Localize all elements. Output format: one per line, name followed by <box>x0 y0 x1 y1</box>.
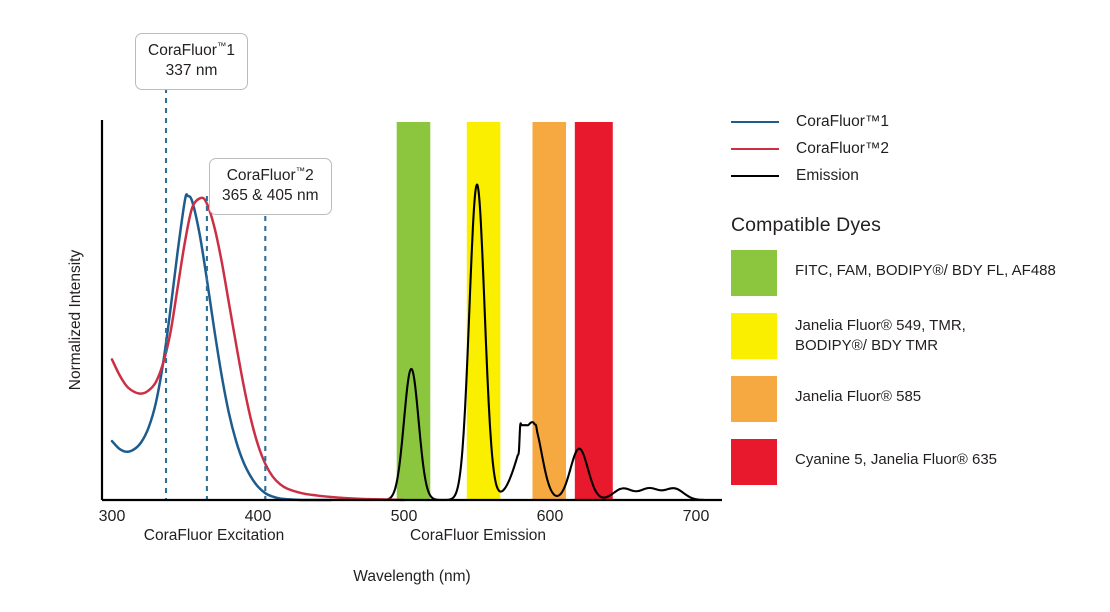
cf1-callout-index: 1 <box>226 42 235 59</box>
cora-fluor-2-callout: CoraFluor™2 365 & 405 nm <box>209 158 332 215</box>
dye-label-fitc: FITC, FAM, BODIPY®/ BDY FL, AF488 <box>795 250 1056 281</box>
emission-band <box>467 122 501 500</box>
dye-label-cyanine-5: Cyanine 5, Janelia Fluor® 635 <box>795 439 997 470</box>
legend-item-cora-fluor-2: CoraFluor™2 <box>731 135 1106 162</box>
dye-label-janelia-549: Janelia Fluor® 549, TMR, BODIPY®/ BDY TM… <box>795 313 966 356</box>
dye-color-swatch-cyanine-5 <box>731 439 777 485</box>
excitation-region-label: CoraFluor Excitation <box>144 527 284 544</box>
dye-label-janelia-549-line1: Janelia Fluor® 549, TMR, <box>795 317 966 334</box>
cf2-callout-index: 2 <box>305 167 314 184</box>
compatible-dyes-heading: Compatible Dyes <box>731 214 1106 237</box>
cf1-callout-name: CoraFluor <box>148 42 217 59</box>
legend-line-swatch-emission <box>731 175 779 177</box>
series-legend: CoraFluor™1 CoraFluor™2 Emission <box>731 108 1106 189</box>
emission-band <box>532 122 566 500</box>
excitation-curve-2 <box>112 198 404 500</box>
x-tick-label-300: 300 <box>99 508 126 525</box>
dye-item-fitc: FITC, FAM, BODIPY®/ BDY FL, AF488 <box>731 250 1106 296</box>
x-tick-label-500: 500 <box>391 508 418 525</box>
cf1-callout-value: 337 nm <box>148 61 235 81</box>
legend-item-cora-fluor-1: CoraFluor™1 <box>731 108 1106 135</box>
legend-line-swatch-cora-fluor-2 <box>731 148 779 150</box>
x-tick-label-700: 700 <box>683 508 710 525</box>
compatible-dyes-list: FITC, FAM, BODIPY®/ BDY FL, AF488 Janeli… <box>731 250 1106 485</box>
x-axis-title: Wavelength (nm) <box>353 568 470 585</box>
cf2-callout-tm: ™ <box>296 166 306 177</box>
dye-label-cyanine-5-line1: Cyanine 5, Janelia Fluor® 635 <box>795 451 997 468</box>
cf2-callout-value: 365 & 405 nm <box>222 186 319 206</box>
legend-item-emission: Emission <box>731 162 1106 189</box>
dye-label-fitc-line1: FITC, FAM, BODIPY®/ BDY FL, AF488 <box>795 262 1056 279</box>
dye-label-janelia-585: Janelia Fluor® 585 <box>795 376 921 407</box>
dye-item-janelia-549: Janelia Fluor® 549, TMR, BODIPY®/ BDY TM… <box>731 313 1106 359</box>
spectra-figure: 300400500600700Normalized IntensityWavel… <box>0 0 1110 612</box>
y-axis-title: Normalized Intensity <box>67 250 84 391</box>
cf1-callout-tm: ™ <box>217 41 227 52</box>
dye-item-janelia-585: Janelia Fluor® 585 <box>731 376 1106 422</box>
dye-label-janelia-585-line1: Janelia Fluor® 585 <box>795 388 921 405</box>
dye-item-cyanine-5: Cyanine 5, Janelia Fluor® 635 <box>731 439 1106 485</box>
legend-label-cora-fluor-1: CoraFluor™1 <box>796 113 889 131</box>
right-panel: CoraFluor™1 CoraFluor™2 Emission Compati… <box>731 108 1106 502</box>
cf2-callout-name: CoraFluor <box>227 167 296 184</box>
legend-line-swatch-cora-fluor-1 <box>731 121 779 123</box>
x-tick-label-400: 400 <box>245 508 272 525</box>
dye-color-swatch-janelia-585 <box>731 376 777 422</box>
dye-color-swatch-fitc <box>731 250 777 296</box>
x-tick-label-600: 600 <box>537 508 564 525</box>
excitation-curve-1 <box>112 194 331 500</box>
legend-label-emission: Emission <box>796 167 859 185</box>
dye-label-janelia-549-line2: BODIPY®/ BDY TMR <box>795 337 938 354</box>
emission-region-label: CoraFluor Emission <box>410 527 546 544</box>
dye-color-swatch-janelia-549 <box>731 313 777 359</box>
emission-band <box>575 122 613 500</box>
cora-fluor-1-callout: CoraFluor™1 337 nm <box>135 33 248 90</box>
legend-label-cora-fluor-2: CoraFluor™2 <box>796 140 889 158</box>
